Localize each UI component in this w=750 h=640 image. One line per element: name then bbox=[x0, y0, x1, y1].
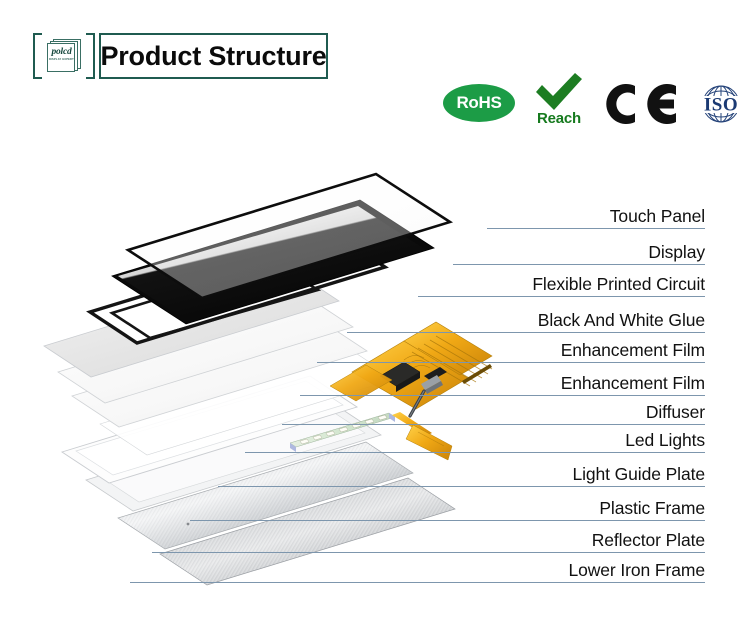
product-structure-page: polcd DISPLAY EXPERT Product Structure R… bbox=[0, 0, 750, 640]
callout-label: Reflector Plate bbox=[592, 532, 705, 553]
leader-line-touch-panel bbox=[487, 228, 705, 229]
leader-line-enhancement-film-1 bbox=[317, 362, 705, 363]
callout-label: Enhancement Film bbox=[561, 375, 705, 396]
leader-line-lower-iron-frame bbox=[130, 582, 705, 583]
leader-line-light-guide-plate bbox=[218, 486, 705, 487]
callout-diffuser: Diffuser bbox=[646, 396, 705, 424]
callout-label: Diffuser bbox=[646, 404, 705, 425]
callout-label: Flexible Printed Circuit bbox=[532, 276, 705, 297]
callout-label: Touch Panel bbox=[610, 208, 705, 229]
callout-label: Enhancement Film bbox=[561, 342, 705, 363]
logo-tagline: DISPLAY EXPERT bbox=[48, 58, 75, 61]
leader-line-enhancement-film-2 bbox=[300, 395, 705, 396]
logo-wordmark: polcd bbox=[48, 47, 75, 57]
callout-touch-panel: Touch Panel bbox=[610, 200, 705, 228]
leader-line-led-lights bbox=[245, 452, 705, 453]
callout-display: Display bbox=[648, 236, 705, 264]
callout-labels: Touch Panel Display Flexible Printed Cir… bbox=[0, 0, 750, 640]
leader-line-plastic-frame bbox=[190, 520, 705, 521]
callout-enhancement-film-1: Enhancement Film bbox=[561, 334, 705, 362]
leader-line-reflector-plate bbox=[152, 552, 705, 553]
callout-label: Plastic Frame bbox=[599, 500, 705, 521]
leader-line-flexible-printed-circuit bbox=[418, 296, 705, 297]
callout-light-guide-plate: Light Guide Plate bbox=[572, 458, 705, 486]
callout-flexible-printed-circuit: Flexible Printed Circuit bbox=[532, 268, 705, 296]
callout-lower-iron-frame: Lower Iron Frame bbox=[568, 554, 705, 582]
callout-enhancement-film-2: Enhancement Film bbox=[561, 367, 705, 395]
leader-line-display bbox=[453, 264, 705, 265]
callout-reflector-plate: Reflector Plate bbox=[592, 524, 705, 552]
callout-label: Led Lights bbox=[625, 432, 705, 453]
callout-label: Light Guide Plate bbox=[572, 466, 705, 487]
callout-plastic-frame: Plastic Frame bbox=[599, 492, 705, 520]
callout-label: Display bbox=[648, 244, 705, 265]
callout-label: Black And White Glue bbox=[538, 312, 705, 333]
callout-label: Lower Iron Frame bbox=[568, 562, 705, 583]
callout-black-and-white-glue: Black And White Glue bbox=[538, 304, 705, 332]
leader-line-black-and-white-glue bbox=[347, 332, 705, 333]
callout-led-lights: Led Lights bbox=[625, 424, 705, 452]
